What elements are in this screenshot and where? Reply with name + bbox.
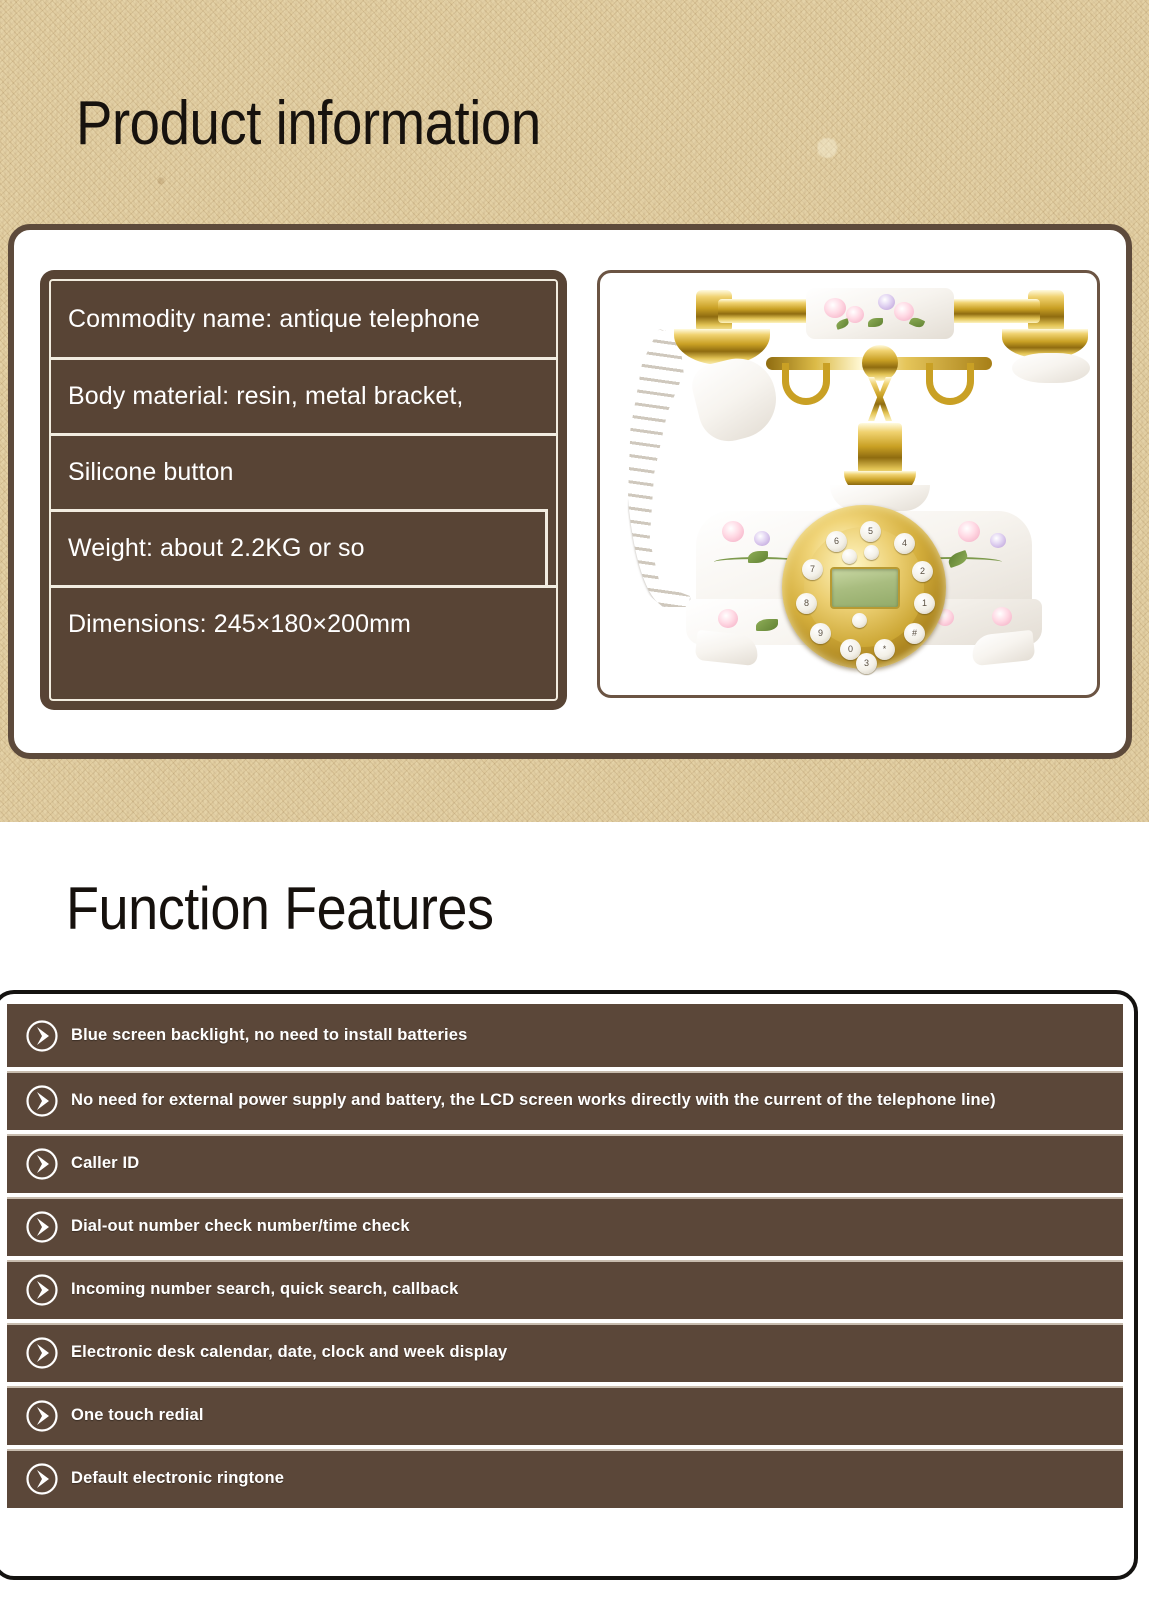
spec-row: Silicone button [51, 433, 556, 509]
feature-item: Blue screen backlight, no need to instal… [7, 1004, 1123, 1067]
spec-row-label: Body material: resin, metal bracket, [68, 382, 463, 411]
chevron-right-circle-icon [25, 1336, 59, 1370]
product-information-title: Product information [76, 88, 541, 160]
handset-bell-left [674, 329, 770, 365]
dial-key[interactable]: 7 [802, 559, 823, 580]
spec-row: Commodity name: antique telephone [51, 281, 556, 357]
flower-petal [754, 531, 770, 546]
handset-grip [806, 288, 954, 339]
function-features-title: Function Features [66, 874, 494, 944]
coiled-cord [626, 329, 700, 607]
dial-key[interactable]: 9 [810, 623, 831, 644]
feature-label: Electronic desk calendar, date, clock an… [71, 1343, 507, 1362]
flower-petal [990, 533, 1006, 548]
dial-key[interactable]: * [874, 639, 895, 660]
feature-label: One touch redial [71, 1406, 204, 1425]
product-information-section: Product information Commodity name: anti… [0, 0, 1149, 822]
dial-key[interactable]: 5 [860, 521, 881, 542]
spec-row-label: Weight: about 2.2KG or so [68, 534, 365, 563]
feature-item: No need for external power supply and ba… [7, 1067, 1123, 1130]
dial-function-key[interactable] [842, 549, 857, 564]
cradle-center-ornament [862, 345, 898, 381]
function-features-section: Function Features Blue screen backlight,… [0, 822, 1149, 1600]
chevron-right-circle-icon [25, 1210, 59, 1244]
spec-row: Weight: about 2.2KG or so [51, 509, 548, 585]
dial-key[interactable]: 1 [914, 593, 935, 614]
dial-key[interactable]: # [904, 623, 925, 644]
chevron-right-circle-icon [25, 1462, 59, 1496]
feature-label: Blue screen backlight, no need to instal… [71, 1026, 467, 1045]
leaf [909, 315, 925, 329]
spec-row: Body material: resin, metal bracket, [51, 357, 556, 433]
leaf [835, 318, 850, 330]
feature-item: One touch redial [7, 1382, 1123, 1445]
feature-item: Dial-out number check number/time check [7, 1193, 1123, 1256]
leaf [756, 619, 778, 631]
mouthpiece [1012, 353, 1090, 383]
feature-item: Incoming number search, quick search, ca… [7, 1256, 1123, 1319]
chevron-right-circle-icon [25, 1019, 59, 1053]
feature-label: No need for external power supply and ba… [71, 1091, 996, 1110]
flower-petal [846, 306, 864, 323]
cradle-hook-right [926, 363, 974, 405]
spec-row-label: Silicone button [68, 458, 234, 487]
feature-label: Dial-out number check number/time check [71, 1217, 410, 1236]
dial-function-key[interactable] [864, 545, 879, 560]
flower-petal [718, 609, 738, 628]
product-photo-frame: 4 5 6 7 8 9 0 * # 1 2 3 [597, 270, 1100, 698]
feature-label: Incoming number search, quick search, ca… [71, 1280, 458, 1299]
flower-petal [878, 294, 895, 310]
spec-row: Dimensions: 245×180×200mm [51, 585, 556, 661]
feature-item: Default electronic ringtone [7, 1445, 1123, 1508]
chevron-right-circle-icon [25, 1273, 59, 1307]
chevron-right-circle-icon [25, 1084, 59, 1118]
lcd-screen [830, 567, 900, 609]
feature-item: Caller ID [7, 1130, 1123, 1193]
handset-shaft-right [948, 299, 1040, 323]
cradle-cross-stem [868, 377, 892, 421]
dial-function-key[interactable] [852, 613, 867, 628]
feature-label: Default electronic ringtone [71, 1469, 284, 1488]
flower-petal [992, 607, 1012, 626]
dial-key[interactable]: 2 [912, 561, 933, 582]
rotary-dial: 4 5 6 7 8 9 0 * # 1 2 3 [782, 505, 946, 669]
specifications-table: Commodity name: antique telephone Body m… [49, 279, 558, 701]
specifications-panel: Commodity name: antique telephone Body m… [40, 270, 567, 710]
function-features-panel: Blue screen backlight, no need to instal… [0, 990, 1138, 1580]
dial-key[interactable]: 3 [856, 653, 877, 674]
flower-petal [958, 521, 980, 542]
chevron-right-circle-icon [25, 1147, 59, 1181]
feature-label: Caller ID [71, 1154, 139, 1173]
product-information-card: Commodity name: antique telephone Body m… [8, 224, 1132, 759]
cradle-hook-left [782, 363, 830, 405]
chevron-right-circle-icon [25, 1399, 59, 1433]
flower-petal [824, 298, 846, 318]
dial-key[interactable]: 4 [894, 533, 915, 554]
feature-item: Electronic desk calendar, date, clock an… [7, 1319, 1123, 1382]
handset-shaft-left [718, 299, 814, 323]
antique-telephone-photo: 4 5 6 7 8 9 0 * # 1 2 3 [600, 273, 1097, 695]
function-features-list: Blue screen backlight, no need to instal… [7, 1004, 1123, 1566]
dial-key[interactable]: 6 [826, 531, 847, 552]
spec-row-label: Commodity name: antique telephone [68, 305, 480, 334]
dial-key[interactable]: 8 [796, 593, 817, 614]
leaf [868, 318, 883, 327]
spec-row-label: Dimensions: 245×180×200mm [68, 610, 411, 639]
flower-petal [722, 521, 744, 542]
